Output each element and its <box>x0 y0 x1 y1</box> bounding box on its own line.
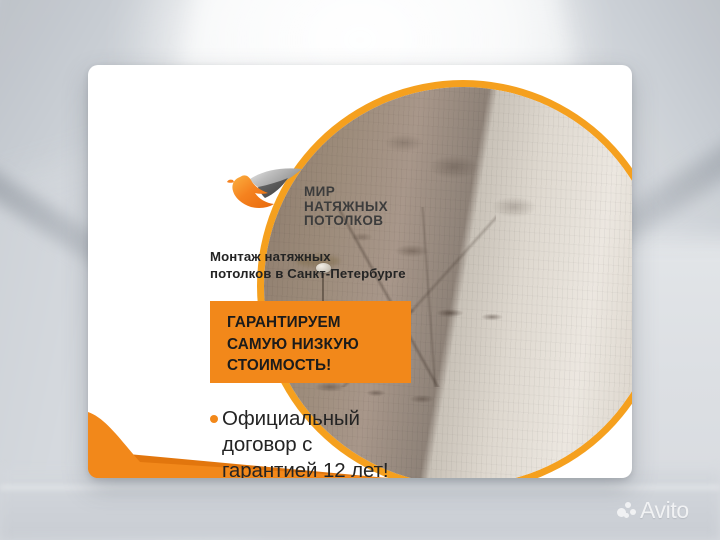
bullet-line-2: договор с <box>222 433 312 456</box>
price-guarantee-callout-text: ГАРАНТИРУЕМ САМУЮ НИЗКУЮ СТОИМОСТЬ! <box>227 312 403 377</box>
background-floor-highlight-line <box>0 486 720 489</box>
bullet-dot-icon <box>210 415 218 423</box>
brand-logo-line-3: ПОТОЛКОВ <box>304 214 388 229</box>
dove-bird-logo-icon <box>224 163 308 215</box>
service-subtitle-line-1: Монтаж натяжных <box>210 249 440 266</box>
callout-line-2: САМУЮ НИЗКУЮ <box>227 334 403 356</box>
avito-watermark: Avito <box>617 499 689 522</box>
brand-logo-line-1: МИР <box>304 185 388 200</box>
callout-line-3: СТОИМОСТЬ! <box>227 355 403 377</box>
bullet-line-3: гарантией 12 лет! <box>222 459 389 478</box>
callout-line-1: ГАРАНТИРУЕМ <box>227 312 403 334</box>
avito-watermark-label: Avito <box>640 499 689 522</box>
service-subtitle-line-2: потолков в Санкт-Петербурге <box>210 266 440 283</box>
service-subtitle: Монтаж натяжных потолков в Санкт-Петербу… <box>210 249 440 282</box>
bullet-line-1: Официальный <box>222 407 360 430</box>
contract-guarantee-bullet: Официальный договор с гарантией 12 лет! <box>210 406 425 478</box>
brand-logo[interactable]: МИР НАТЯЖНЫХ ПОТОЛКОВ <box>224 163 400 235</box>
contract-guarantee-text: Официальный договор с гарантией 12 лет! <box>222 406 389 478</box>
brand-logo-text: МИР НАТЯЖНЫХ ПОТОЛКОВ <box>304 185 388 229</box>
background-floor-band <box>0 470 720 540</box>
price-guarantee-callout: ГАРАНТИРУЕМ САМУЮ НИЗКУЮ СТОИМОСТЬ! <box>210 301 411 383</box>
brand-logo-line-2: НАТЯЖНЫХ <box>304 200 388 215</box>
advertisement-card[interactable]: МИР НАТЯЖНЫХ ПОТОЛКОВ Монтаж натяжных по… <box>88 65 632 478</box>
avito-dots-icon <box>617 502 636 519</box>
